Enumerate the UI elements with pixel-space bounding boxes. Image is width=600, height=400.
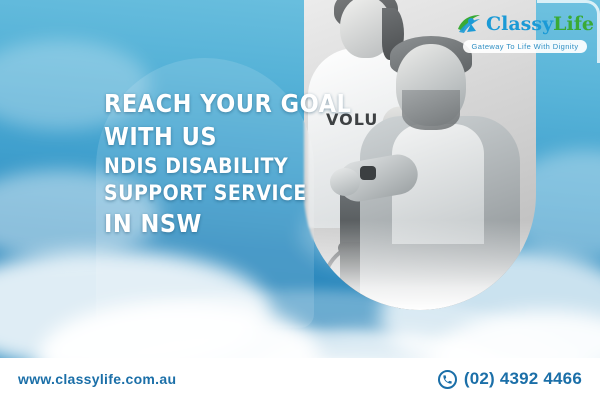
promotional-poster: VOLU REACH YOUR GOAL WITH US NDIS DISABI… xyxy=(0,0,600,400)
phone-icon xyxy=(438,370,457,389)
phone-block[interactable]: (02) 4392 4466 xyxy=(438,369,582,389)
headline-line-5: IN NSW xyxy=(104,208,334,241)
logo-name-part1: Classy xyxy=(486,13,553,35)
headline-line-1: REACH YOUR GOAL xyxy=(104,88,334,121)
brand-logo: ClassyLife Gateway To Life With Dignity xyxy=(462,12,588,54)
man-figure-beard xyxy=(402,90,460,130)
logo-name-part2: Life xyxy=(553,13,594,35)
headline-line-3: NDIS DISABILITY xyxy=(104,153,334,180)
headline: REACH YOUR GOAL WITH US NDIS DISABILITY … xyxy=(104,88,334,240)
wristwatch xyxy=(360,166,376,180)
photo-fade-overlay xyxy=(304,220,536,310)
website-url[interactable]: www.classylife.com.au xyxy=(18,371,176,387)
headline-line-4: SUPPORT SERVICE xyxy=(104,180,334,207)
man-figure-hand xyxy=(330,168,360,196)
person-swoosh-icon xyxy=(456,12,482,36)
logo-tagline: Gateway To Life With Dignity xyxy=(463,40,588,53)
footer-bar: www.classylife.com.au (02) 4392 4466 xyxy=(0,358,600,400)
phone-number[interactable]: (02) 4392 4466 xyxy=(464,369,582,389)
headline-line-2: WITH US xyxy=(104,121,334,154)
